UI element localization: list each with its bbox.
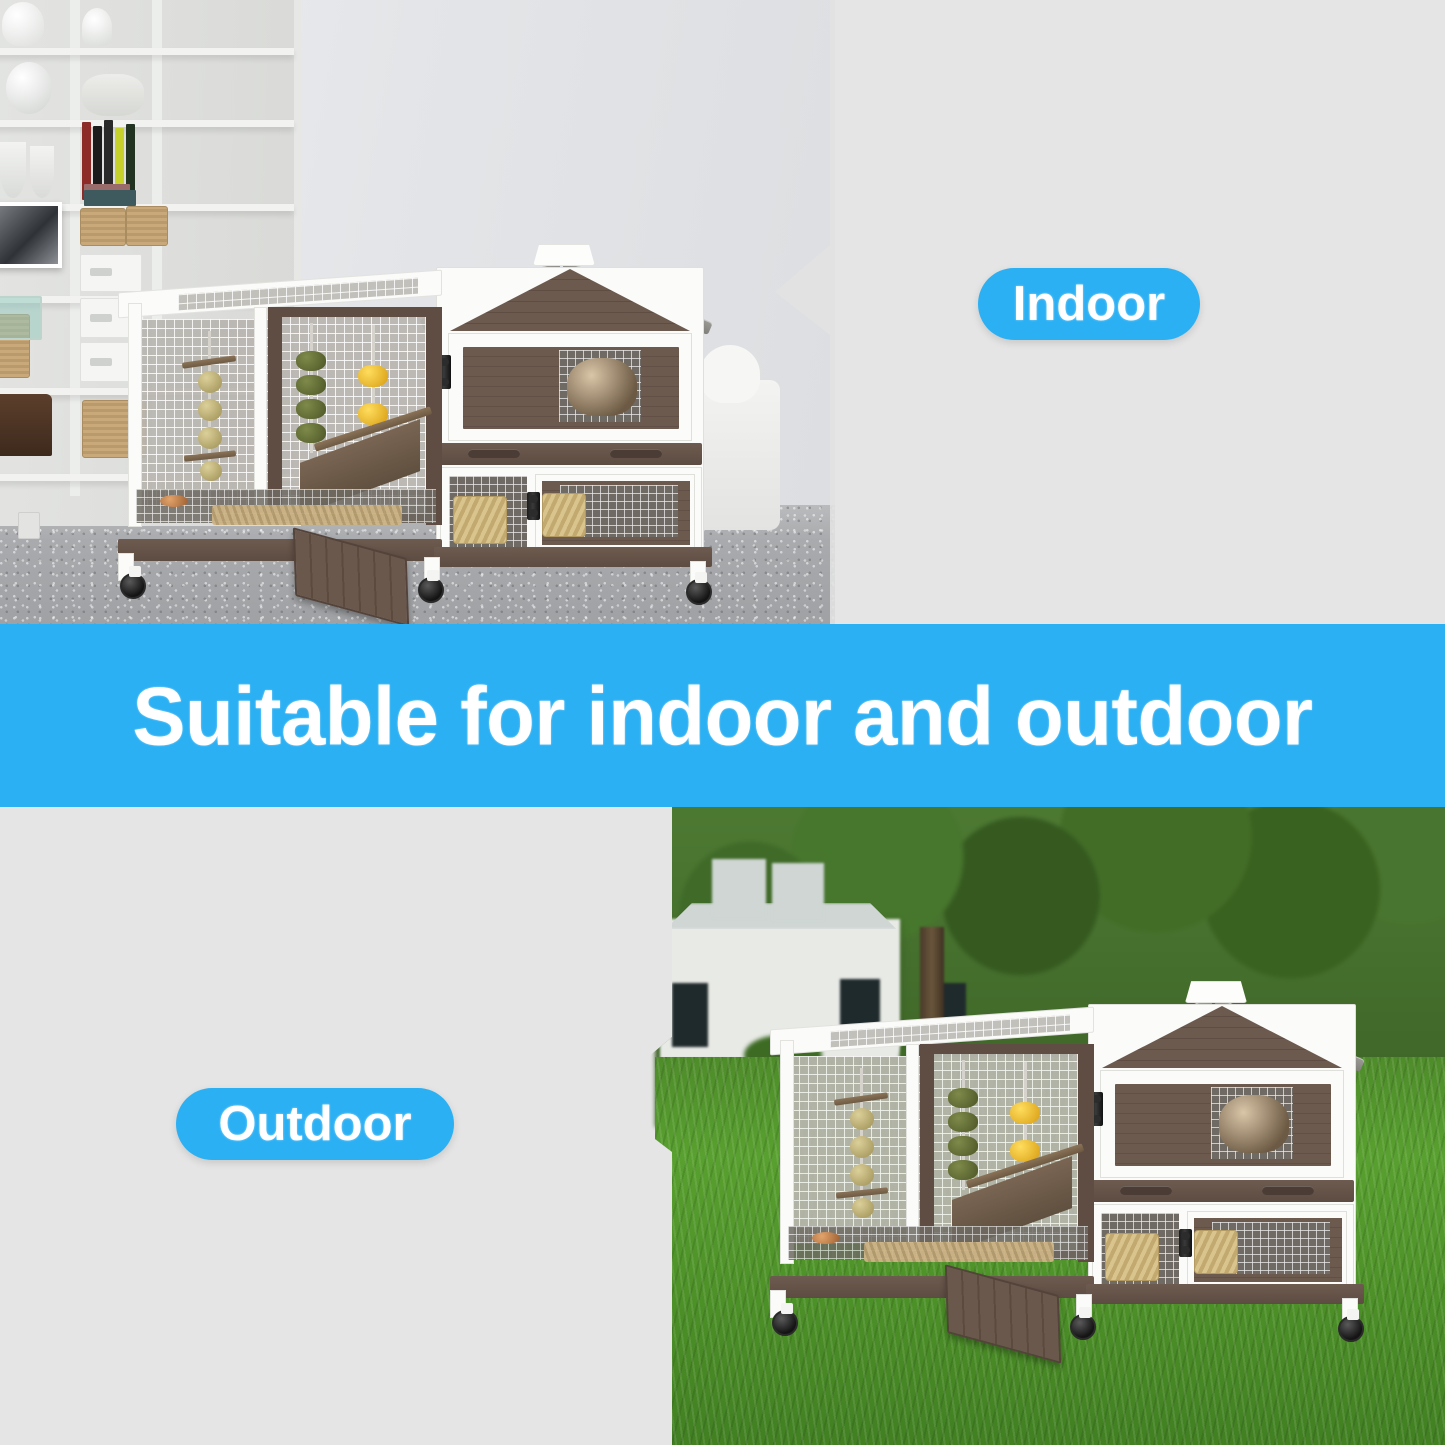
veg-chew-3	[296, 399, 326, 419]
wall-frame-2	[1200, 118, 1278, 202]
hay-bundle-left	[453, 496, 507, 544]
yellow-chew-1	[358, 365, 388, 387]
top-plant	[1022, 14, 1092, 114]
carrot-treat	[812, 1232, 840, 1244]
yellow-chew-1	[1010, 1102, 1040, 1124]
outdoor-house-door	[672, 983, 708, 1047]
exercise-run	[122, 293, 442, 555]
badge-outdoor-label: Outdoor	[218, 1100, 411, 1149]
dormer-left-window	[284, 835, 314, 887]
chew-ball-2	[198, 399, 222, 421]
chew-ball-3	[850, 1164, 874, 1186]
tray-handle-right	[610, 449, 662, 458]
veg-chew-3	[948, 1136, 978, 1156]
wall-frame-1	[1200, 22, 1278, 106]
roof-ridge-cap	[1185, 981, 1247, 1003]
house-window-5	[542, 911, 588, 975]
caster-wheel-2	[1070, 1314, 1096, 1340]
porch-column-5	[555, 995, 564, 1095]
veg-chew-1	[948, 1088, 978, 1108]
house-window-4	[488, 911, 534, 975]
house-window-2	[312, 911, 358, 975]
banner-suitable-for-indoor-and-outdoor: Suitable for indoor and outdoor	[0, 624, 1445, 807]
porch-column-1	[140, 995, 149, 1095]
veg-chew-1	[296, 351, 326, 371]
chew-ball-3	[198, 427, 222, 449]
house-window-1	[252, 911, 298, 975]
caster-wheel-3	[686, 579, 712, 605]
veg-chew-2	[296, 375, 326, 395]
outdoor-dormer-1	[712, 859, 766, 919]
caster-wheel-1	[772, 1310, 798, 1336]
veg-chew-2	[948, 1112, 978, 1132]
veg-chew-4	[296, 423, 326, 443]
chew-ball-4	[852, 1198, 874, 1218]
lower-door-hinge-icon	[1179, 1229, 1192, 1257]
lower-door-frame	[1187, 1211, 1347, 1287]
caster-wheel-3	[1338, 1316, 1364, 1342]
badge-indoor[interactable]: Indoor	[978, 268, 1200, 340]
porch-column-2	[225, 995, 234, 1095]
porch-window-2	[470, 1005, 522, 1083]
banner-text: Suitable for indoor and outdoor	[29, 674, 1416, 757]
bedding-run	[212, 505, 402, 525]
run-door-top-rail	[920, 1044, 1094, 1054]
lower-compartment	[1092, 1204, 1354, 1292]
veg-chew-4	[948, 1160, 978, 1180]
shelf-plant-1	[1095, 191, 1125, 217]
dormer-right-window	[512, 833, 542, 887]
house-base-rail	[1086, 1284, 1364, 1304]
shelf-vase	[983, 431, 1039, 505]
lawn-faded	[0, 1125, 760, 1445]
exercise-run	[774, 1030, 1094, 1292]
caster-wheel-1	[120, 573, 146, 599]
hay-bundle-left	[1105, 1233, 1159, 1281]
run-door-top-rail	[268, 307, 442, 317]
caster-wheel-2	[418, 577, 444, 603]
badge-indoor-label: Indoor	[1013, 280, 1165, 329]
window	[1320, 0, 1445, 564]
porch-column-4	[432, 995, 441, 1095]
house-base-rail	[434, 547, 712, 567]
hay-bundle-right	[1194, 1230, 1238, 1274]
chew-ball-1	[198, 371, 222, 393]
upper-door-frame	[448, 333, 692, 441]
window-handle	[1292, 266, 1302, 292]
carrot-treat	[160, 495, 188, 507]
rabbit-hutch-product	[118, 205, 758, 610]
lower-compartment	[440, 467, 702, 555]
rabbit-in-hutch	[1219, 1095, 1289, 1153]
house-window-3	[378, 907, 426, 973]
tray-handle-right	[1262, 1186, 1314, 1195]
lower-door-frame	[535, 474, 695, 550]
upper-door-frame	[1100, 1070, 1344, 1178]
shelf-plant-2	[1097, 355, 1123, 387]
panel-indoor-product-photo	[0, 0, 835, 624]
bedding-run	[864, 1242, 1054, 1262]
porch-window-1	[282, 1005, 334, 1083]
lower-door-hinge-icon	[527, 492, 540, 520]
window-frame-post	[1305, 0, 1319, 560]
chew-ball-4	[200, 461, 222, 481]
roof-ridge-cap	[533, 244, 595, 266]
tray-handle-left	[1120, 1186, 1172, 1195]
rabbit-hutch-product-outdoor	[770, 942, 1410, 1347]
outdoor-dormer-2	[772, 863, 824, 921]
rabbit-in-hutch	[567, 358, 637, 416]
top-plant-pot	[1035, 122, 1081, 164]
wall-socket	[18, 512, 40, 539]
dormer-left-window-2	[314, 835, 344, 887]
tray-handle-left	[468, 449, 520, 458]
chew-ball-1	[850, 1108, 874, 1130]
wall-frame-3	[1200, 218, 1278, 302]
hay-bundle-right	[542, 493, 586, 537]
chew-ball-2	[850, 1136, 874, 1158]
dormer-right-window-2	[542, 833, 572, 887]
product-collage: Indoor Suitable for indoor and outdoor	[0, 0, 1445, 1445]
badge-outdoor[interactable]: Outdoor	[176, 1088, 454, 1160]
porch-roof	[120, 979, 720, 997]
